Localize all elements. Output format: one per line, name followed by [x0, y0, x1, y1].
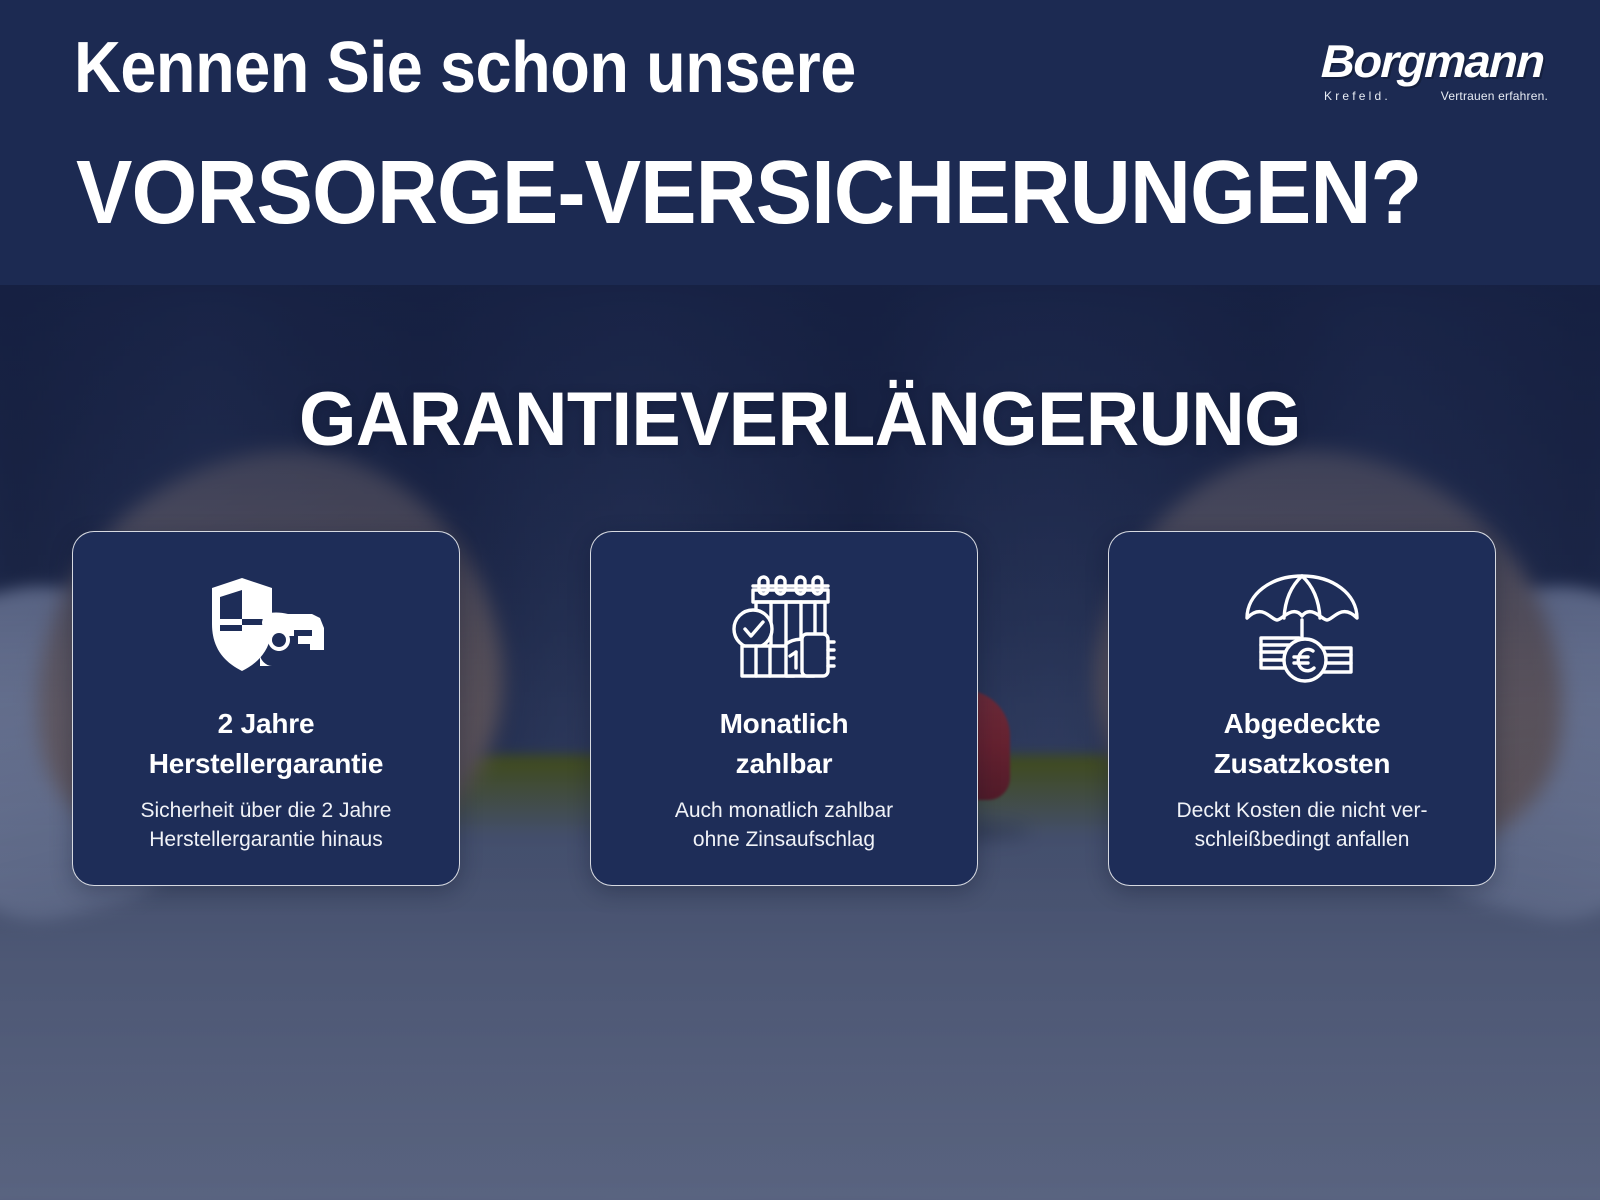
promo-poster: Kennen Sie schon unsere VORSORGE-VERSICH… [0, 0, 1600, 1200]
logo-tagline-text: Vertrauen erfahren. [1441, 90, 1548, 102]
feature-card-warranty[interactable]: 2 Jahre Herstellergarantie Sicherheit üb… [72, 531, 460, 886]
card-title-line-2: Zusatzkosten [1214, 744, 1391, 784]
card-title-line-1: 2 Jahre [149, 704, 384, 744]
logo-subline: Krefeld. Vertrauen erfahren. [1324, 90, 1548, 105]
borgmann-logo: Borgmann Krefeld. Vertrauen erfahren. [1322, 38, 1548, 106]
card-title-line-1: Monatlich [720, 704, 849, 744]
card-description: Auch monatlich zahlbar ohne Zinsaufschla… [653, 796, 915, 856]
card-title-line-2: Herstellergarantie [149, 744, 384, 784]
card-title: Abgedeckte Zusatzkosten [1196, 704, 1409, 784]
card-desc-line-1: Auch monatlich zahlbar [675, 796, 893, 826]
card-desc-line-2: ohne Zinsaufschlag [675, 825, 893, 855]
header-band: Kennen Sie schon unsere VORSORGE-VERSICH… [0, 0, 1600, 285]
card-description: Deckt Kosten die nicht ver- schleißbedin… [1155, 796, 1450, 856]
shield-car-icon [196, 566, 336, 690]
card-title-line-1: Abgedeckte [1214, 704, 1391, 744]
card-title: Monatlich zahlbar [702, 704, 867, 784]
logo-brand-text: Borgmann [1320, 38, 1544, 84]
card-desc-line-1: Deckt Kosten die nicht ver- [1177, 796, 1428, 826]
calendar-check-money-icon [714, 566, 854, 690]
umbrella-euro-coins-icon [1232, 566, 1372, 690]
card-desc-line-1: Sicherheit über die 2 Jahre [141, 796, 392, 826]
card-title-line-2: zahlbar [720, 744, 849, 784]
headline-line-2: VORSORGE-VERSICHERUNGEN? [76, 148, 1421, 238]
card-desc-line-2: schleißbedingt anfallen [1177, 825, 1428, 855]
headline-line-1: Kennen Sie schon unsere [74, 32, 856, 104]
feature-card-monthly-payment[interactable]: Monatlich zahlbar Auch monatlich zahlbar… [590, 531, 978, 886]
page-title: GARANTIEVERLÄNGERUNG [24, 382, 1576, 458]
feature-card-extra-costs[interactable]: Abgedeckte Zusatzkosten Deckt Kosten die… [1108, 531, 1496, 886]
logo-location-text: Krefeld. [1324, 90, 1391, 102]
card-title: 2 Jahre Herstellergarantie [131, 704, 402, 784]
card-description: Sicherheit über die 2 Jahre Herstellerga… [119, 796, 414, 856]
feature-card-list: 2 Jahre Herstellergarantie Sicherheit üb… [72, 531, 1496, 886]
card-desc-line-2: Herstellergarantie hinaus [141, 825, 392, 855]
